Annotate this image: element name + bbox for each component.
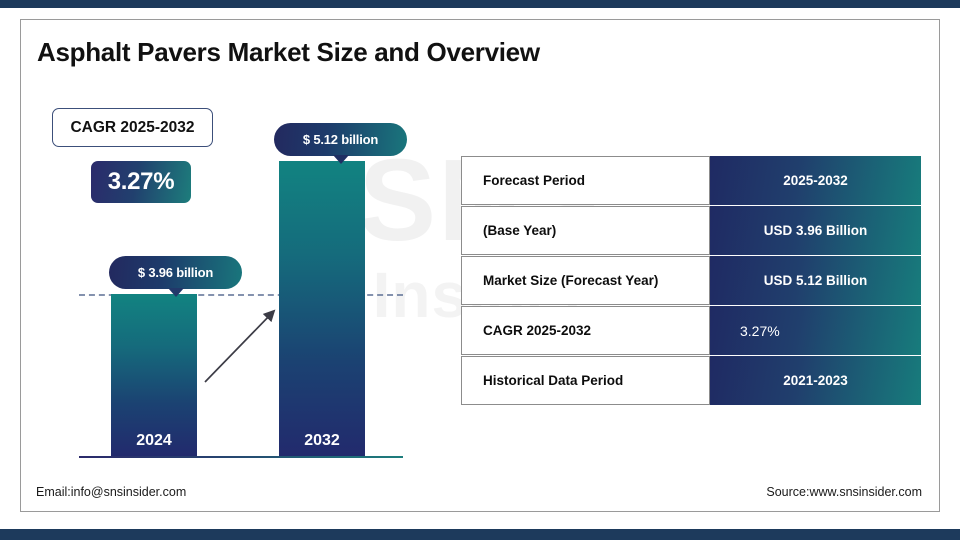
table-row: Forecast Period 2025-2032 <box>461 156 921 205</box>
table-row: (Base Year) USD 3.96 Billion <box>461 206 921 255</box>
footer-source: Source:www.snsinsider.com <box>766 485 922 499</box>
bar-label-2024: 2024 <box>111 432 197 450</box>
spec-key: Market Size (Forecast Year) <box>461 256 710 305</box>
cagr-value-text: 3.27% <box>108 168 175 196</box>
growth-arrow-icon <box>197 300 287 390</box>
cagr-label-text: CAGR 2025-2032 <box>70 119 194 137</box>
callout-pill-2024-text: $ 3.96 billion <box>138 265 213 280</box>
spec-value: 2025-2032 <box>710 156 921 205</box>
callout-pill-2032: $ 5.12 billion <box>274 123 407 156</box>
spec-value: USD 3.96 Billion <box>710 206 921 255</box>
table-row: CAGR 2025-2032 3.27% <box>461 306 921 355</box>
cagr-label-box: CAGR 2025-2032 <box>52 108 213 147</box>
cagr-value-badge: 3.27% <box>91 161 191 203</box>
page-title: Asphalt Pavers Market Size and Overview <box>37 37 540 68</box>
spec-key: Historical Data Period <box>461 356 710 405</box>
bar-label-2032: 2032 <box>279 432 365 450</box>
bar-2032: 2032 <box>279 161 365 456</box>
spec-value: 3.27% <box>710 306 921 355</box>
callout-pill-2032-text: $ 5.12 billion <box>303 132 378 147</box>
spec-value: USD 5.12 Billion <box>710 256 921 305</box>
top-accent-band <box>0 0 960 8</box>
slide-card: SNS Insider Asphalt Pavers Market Size a… <box>20 19 940 512</box>
callout-pill-2024: $ 3.96 billion <box>109 256 242 289</box>
spec-key: Forecast Period <box>461 156 710 205</box>
chart-baseline <box>79 456 403 458</box>
bar-chart: 2024 2032 $ 3.96 billion $ 5.12 billion <box>21 20 481 512</box>
bar-2024: 2024 <box>111 294 197 456</box>
bottom-accent-band <box>0 529 960 540</box>
table-row: Historical Data Period 2021-2023 <box>461 356 921 405</box>
footer-email: Email:info@snsinsider.com <box>36 485 186 499</box>
table-row: Market Size (Forecast Year) USD 5.12 Bil… <box>461 256 921 305</box>
spec-key: (Base Year) <box>461 206 710 255</box>
spec-key: CAGR 2025-2032 <box>461 306 710 355</box>
spec-table: Forecast Period 2025-2032 (Base Year) US… <box>461 156 921 406</box>
spec-value: 2021-2023 <box>710 356 921 405</box>
